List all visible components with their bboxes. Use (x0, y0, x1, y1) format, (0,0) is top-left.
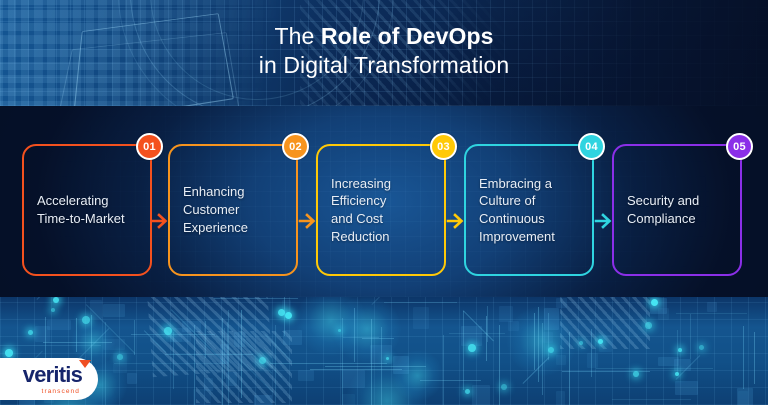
circuit-trace (690, 314, 691, 359)
circuit-square (127, 373, 137, 384)
circuit-square (254, 395, 272, 405)
circuit-square (342, 370, 365, 388)
circuit-trace (310, 369, 402, 370)
title-line-2: in Digital Transformation (0, 51, 768, 80)
logo-tagline: transcend (42, 388, 80, 395)
process-step-badge: 04 (578, 133, 605, 160)
flow-arrow-4 (593, 210, 615, 232)
circuit-node (678, 348, 682, 352)
circuit-node (117, 354, 123, 360)
process-step-card-03[interactable]: Increasing Efficiency and Cost Reduction… (316, 144, 446, 276)
circuit-trace (420, 380, 481, 381)
circuit-square (413, 307, 429, 329)
circuit-trace (342, 318, 343, 405)
flow-arrow-1 (149, 210, 171, 232)
process-step-card-02[interactable]: Enhancing Customer Experience02 (168, 144, 298, 276)
circuit-trace (596, 368, 713, 369)
title-prefix: The (274, 23, 320, 49)
process-step-label: Accelerating Time-to-Market (24, 192, 131, 227)
circuit-square (675, 381, 698, 395)
circuit-trace (463, 311, 464, 390)
circuit-trace (449, 333, 505, 334)
circuit-trace (45, 317, 46, 358)
circuit-trace (214, 298, 298, 299)
circuit-trace (569, 332, 570, 405)
circuit-square (556, 391, 565, 405)
circuit-node (259, 357, 266, 364)
circuit-trace (612, 399, 691, 400)
circuit-trace (591, 329, 592, 377)
circuit-square (393, 356, 409, 374)
page-title: The Role of DevOps in Digital Transforma… (0, 22, 768, 80)
circuit-trace (443, 335, 444, 405)
circuit-node (468, 344, 476, 352)
circuit-trace (76, 318, 77, 352)
circuit-square (47, 320, 71, 330)
circuit-trace (542, 323, 543, 395)
process-step-badge: 01 (136, 133, 163, 160)
process-step-label: Embracing a Culture of Continuous Improv… (466, 175, 561, 246)
circuit-trace (534, 313, 535, 370)
circuit-node (28, 330, 33, 335)
title-line-1: The Role of DevOps (0, 22, 768, 51)
circuit-node (598, 339, 603, 344)
circuit-node (82, 316, 90, 324)
process-step-label: Enhancing Customer Experience (170, 183, 254, 236)
circuit-square (103, 304, 125, 317)
circuit-trace (275, 325, 276, 405)
circuit-trace (754, 332, 755, 384)
veritis-logo[interactable]: veritis transcend (0, 358, 98, 400)
circuit-trace (362, 338, 394, 339)
circuit-square (658, 308, 669, 320)
circuit-square (587, 353, 598, 368)
process-step-label: Security and Compliance (614, 192, 705, 227)
circuit-square (342, 394, 355, 405)
process-flow: Accelerating Time-to-Market01Enhancing C… (0, 106, 768, 297)
logo-name-text: veritis (23, 362, 82, 387)
circuit-trace (105, 322, 106, 405)
circuit-trace (354, 308, 355, 362)
circuit-square (508, 321, 519, 331)
circuit-square (193, 389, 211, 405)
circuit-square (499, 306, 513, 322)
circuit-square (544, 308, 559, 330)
circuit-node (633, 371, 639, 377)
circuit-square (737, 388, 753, 405)
circuit-square (556, 355, 566, 365)
circuit-trace (384, 302, 457, 303)
circuit-square (658, 357, 679, 366)
circuit-trace (499, 325, 500, 405)
circuit-trace (194, 325, 195, 405)
circuit-trace (270, 363, 387, 364)
logo-wordmark: veritis (23, 364, 82, 386)
circuit-square (298, 370, 314, 381)
circuit-node (5, 349, 13, 357)
circuit-trace (43, 342, 112, 343)
circuit-trace (538, 307, 539, 382)
circuit-trace (325, 366, 426, 367)
circuit-trace (548, 313, 549, 360)
process-step-card-04[interactable]: Embracing a Culture of Continuous Improv… (464, 144, 594, 276)
title-emphasis: Role of DevOps (321, 23, 494, 49)
circuit-node (645, 322, 652, 329)
circuit-trace (205, 321, 206, 358)
circuit-trace (114, 363, 226, 364)
circuit-trace (676, 313, 747, 314)
circuit-square (707, 302, 717, 312)
circuit-trace (165, 354, 253, 355)
circuit-trace (0, 345, 101, 346)
flow-arrow-2 (297, 210, 319, 232)
footer-background (0, 297, 768, 405)
circuit-trace (173, 332, 174, 389)
circuit-square (556, 298, 567, 308)
circuit-trace (131, 334, 215, 335)
process-step-badge: 02 (282, 133, 309, 160)
process-step-card-05[interactable]: Security and Compliance05 (612, 144, 742, 276)
circuit-node (699, 345, 704, 350)
circuit-trace (743, 326, 744, 389)
infographic-root: The Role of DevOps in Digital Transforma… (0, 0, 768, 405)
circuit-trace (371, 319, 372, 405)
orange-chevron-icon (79, 360, 91, 368)
process-step-badge: 03 (430, 133, 457, 160)
circuit-node (164, 327, 172, 335)
process-step-label: Increasing Efficiency and Cost Reduction (318, 175, 397, 246)
circuit-trace (134, 320, 135, 355)
flow-arrow-3 (445, 210, 467, 232)
circuit-trace (486, 316, 487, 361)
circuit-square (204, 378, 213, 391)
circuit-square (472, 385, 490, 405)
process-step-badge: 05 (726, 133, 753, 160)
circuit-square (283, 330, 302, 345)
process-step-card-01[interactable]: Accelerating Time-to-Market01 (22, 144, 152, 276)
